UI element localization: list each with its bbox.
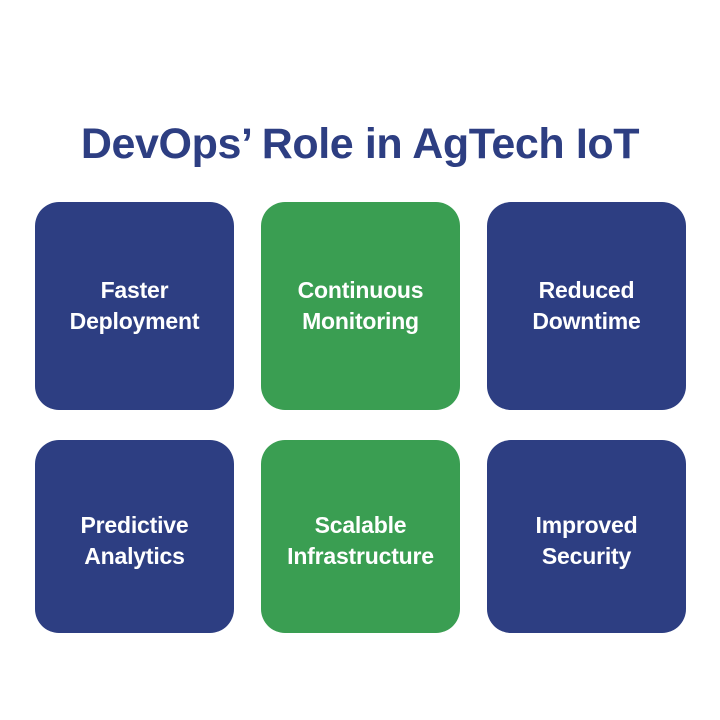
card-label-faster-deployment: Faster Deployment	[70, 275, 200, 337]
card-improved-security: Improved Security	[487, 440, 686, 633]
card-label-reduced-downtime: Reduced Downtime	[532, 275, 640, 337]
card-reduced-downtime: Reduced Downtime	[487, 202, 686, 410]
card-scalable-infrastructure: Scalable Infrastructure	[261, 440, 460, 633]
infographic-canvas: DevOps’ Role in AgTech IoT Faster Deploy…	[0, 0, 720, 720]
card-label-improved-security: Improved Security	[536, 510, 638, 572]
card-label-continuous-monitoring: Continuous Monitoring	[298, 275, 424, 337]
card-continuous-monitoring: Continuous Monitoring	[261, 202, 460, 410]
page-title: DevOps’ Role in AgTech IoT	[0, 117, 720, 171]
benefit-card-grid: Faster Deployment Continuous Monitoring …	[35, 202, 685, 633]
card-label-scalable-infrastructure: Scalable Infrastructure	[287, 510, 434, 572]
card-predictive-analytics: Predictive Analytics	[35, 440, 234, 633]
card-faster-deployment: Faster Deployment	[35, 202, 234, 410]
page-title-container: DevOps’ Role in AgTech IoT	[0, 88, 720, 200]
card-label-predictive-analytics: Predictive Analytics	[81, 510, 189, 572]
